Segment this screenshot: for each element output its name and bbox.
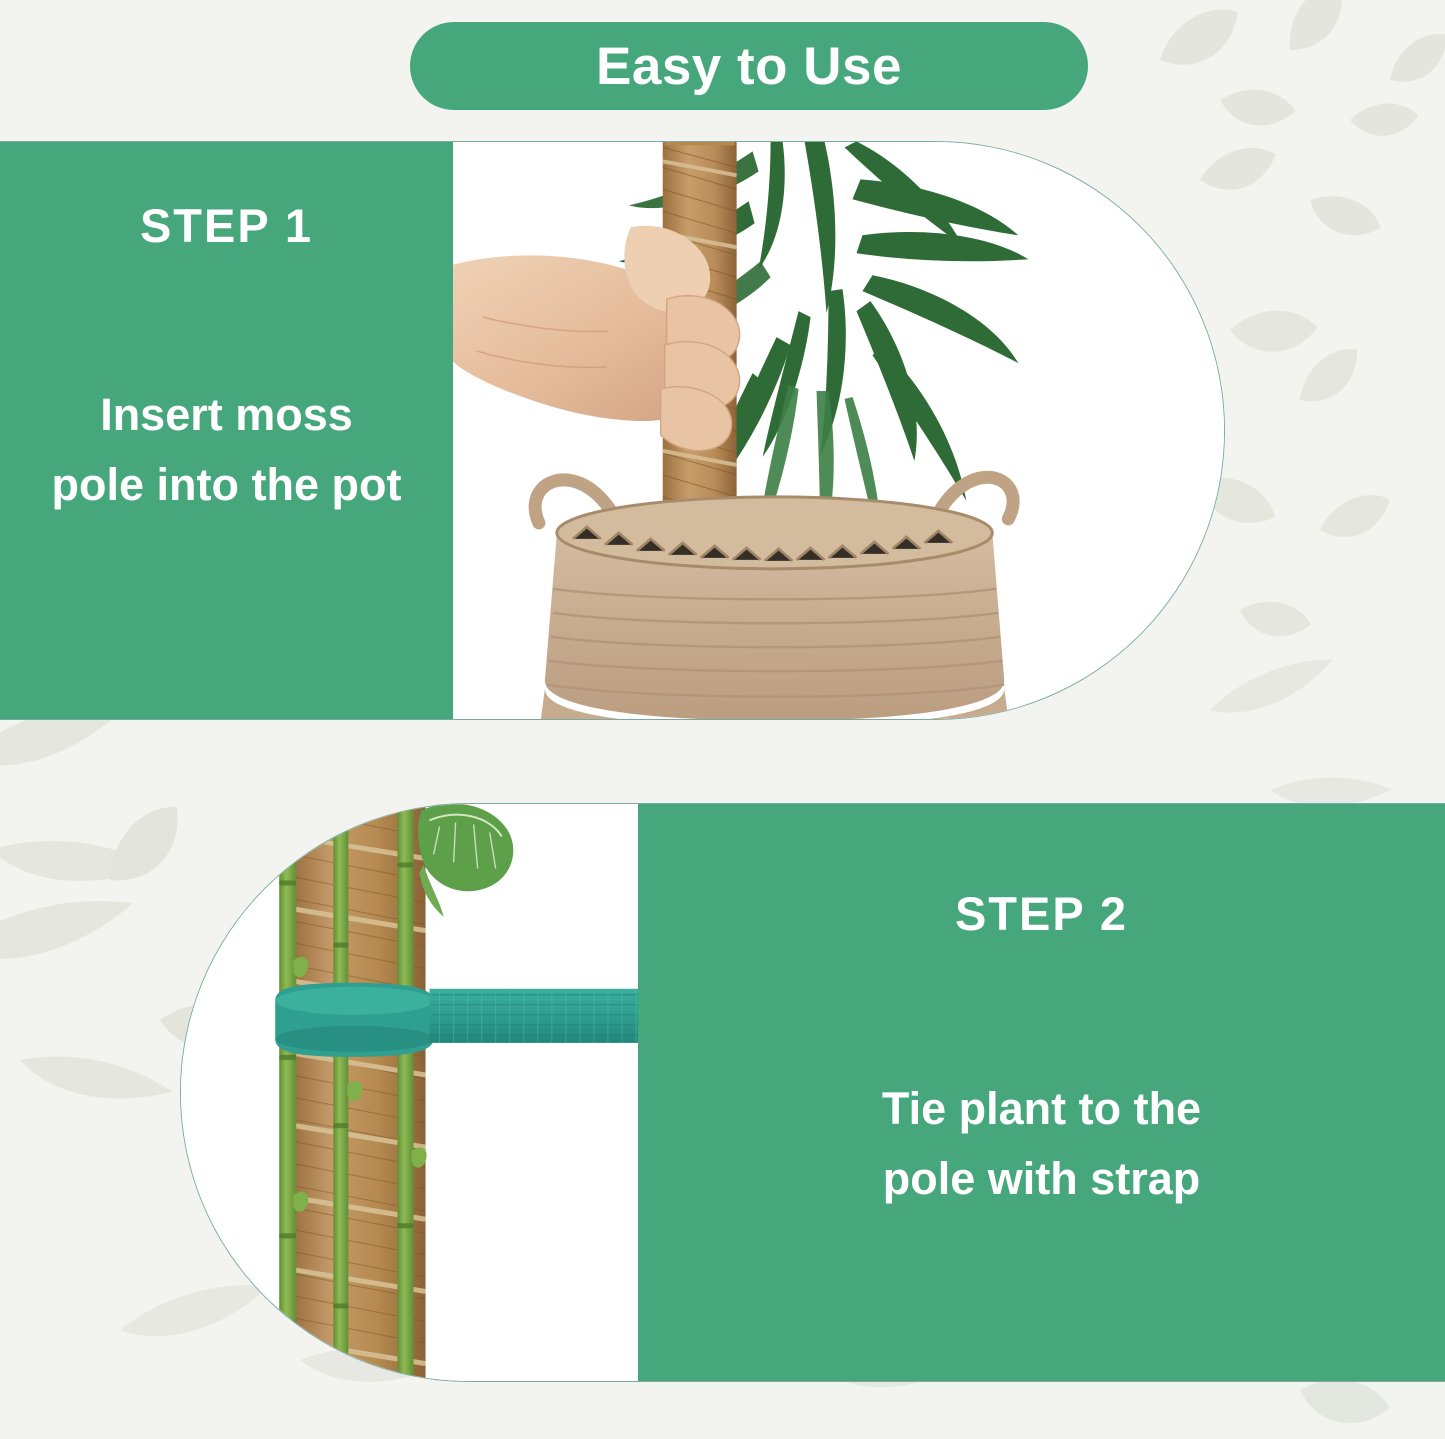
step-1-photo — [453, 142, 1224, 719]
step-1-description-line-2: pole into the pot — [0, 450, 453, 520]
basket-pot — [535, 477, 1013, 719]
step-2-card: STEP 2 Tie plant to the pole with strap — [180, 803, 1445, 1382]
step-2-text-panel: STEP 2 Tie plant to the pole with strap — [638, 804, 1445, 1381]
step-2-description: Tie plant to the pole with strap — [638, 1074, 1445, 1214]
page-title: Easy to Use — [596, 40, 902, 93]
step-1-description: Insert moss pole into the pot — [0, 380, 453, 520]
step-2-description-line-2: pole with strap — [638, 1144, 1445, 1214]
step-1-description-line-1: Insert moss — [0, 380, 453, 450]
step-2-label: STEP 2 — [638, 886, 1445, 941]
step-1-card: STEP 1 Insert moss pole into the pot — [0, 141, 1225, 720]
step-1-label: STEP 1 — [0, 198, 453, 253]
step-2-description-line-1: Tie plant to the — [638, 1074, 1445, 1144]
header-badge: Easy to Use — [410, 22, 1088, 110]
step-1-text-panel: STEP 1 Insert moss pole into the pot — [0, 142, 453, 719]
step-2-photo — [181, 804, 638, 1381]
